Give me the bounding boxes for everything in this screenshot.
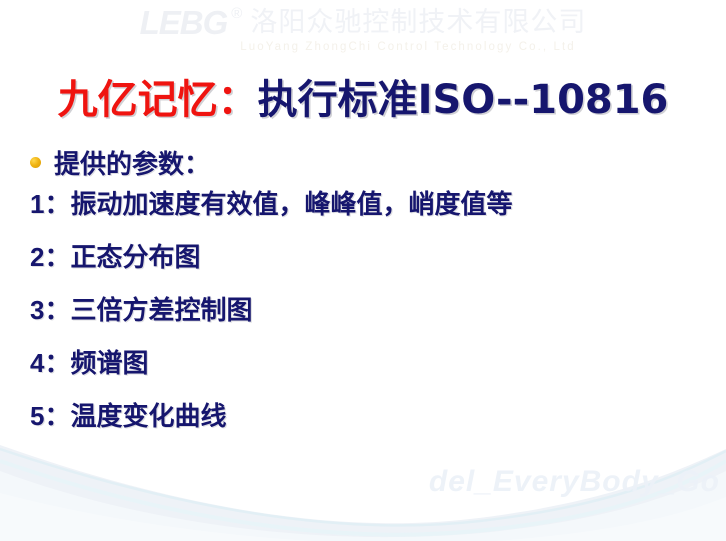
list-item-index: 5： [30, 396, 70, 433]
slide-canvas: LEBG ® 洛阳众驰控制技术有限公司 LuoYang ZhongChi Con… [0, 0, 726, 541]
swoosh-band-upper [0, 445, 726, 541]
list-item: 5： 温度变化曲线 [30, 396, 710, 433]
content-body: 提供的参数： 1： 振动加速度有效值，峰峰值，峭度值等 2： 正态分布图 3： … [30, 152, 710, 449]
list-item-label: 正态分布图 [70, 245, 200, 271]
list-item-label: 振动加速度有效值，峰峰值，峭度值等 [70, 192, 512, 218]
watermark-company-name-cn: 洛阳众驰控制技术有限公司 [250, 9, 586, 36]
swoosh-band-base [0, 493, 726, 541]
list-item-index: 1： [30, 184, 70, 221]
title-brand-part: 九亿记忆： [58, 77, 258, 123]
list-item: 1： 振动加速度有效值，峰峰值，峭度值等 [30, 184, 710, 221]
list-item-label: 温度变化曲线 [70, 404, 226, 430]
footer-watermark-text: del_EveryBody_Go [429, 465, 720, 499]
list-item: 2： 正态分布图 [30, 237, 710, 274]
watermark-logo-row: LEBG ® 洛阳众驰控制技术有限公司 [0, 4, 726, 40]
registered-trademark-icon: ® [231, 6, 242, 21]
list-item-heading: 提供的参数： [30, 152, 710, 178]
watermark-company-name-en: LuoYang ZhongChi Control Technology Co.,… [0, 41, 726, 53]
page-title: 九亿记忆：执行标准ISO--10816 [0, 75, 726, 125]
list-item-index: 2： [30, 237, 70, 274]
list-item: 3： 三倍方差控制图 [30, 290, 710, 327]
swoosh-band-lower [0, 471, 726, 541]
list-item-label: 三倍方差控制图 [70, 298, 252, 324]
title-standard-part: 执行标准ISO--10816 [258, 77, 669, 123]
company-watermark: LEBG ® 洛阳众驰控制技术有限公司 LuoYang ZhongChi Con… [0, 4, 726, 62]
parameters-heading-label: 提供的参数： [54, 152, 210, 178]
list-item-index: 3： [30, 290, 70, 327]
list-item-index: 4： [30, 343, 70, 380]
lebg-logo-text: LEBG [140, 6, 228, 39]
list-item-label: 频谱图 [70, 351, 148, 377]
swoosh-line-thin [0, 449, 726, 525]
list-item: 4： 频谱图 [30, 343, 710, 380]
bullet-dot-icon [30, 157, 41, 168]
swoosh-line-thick [0, 461, 726, 535]
